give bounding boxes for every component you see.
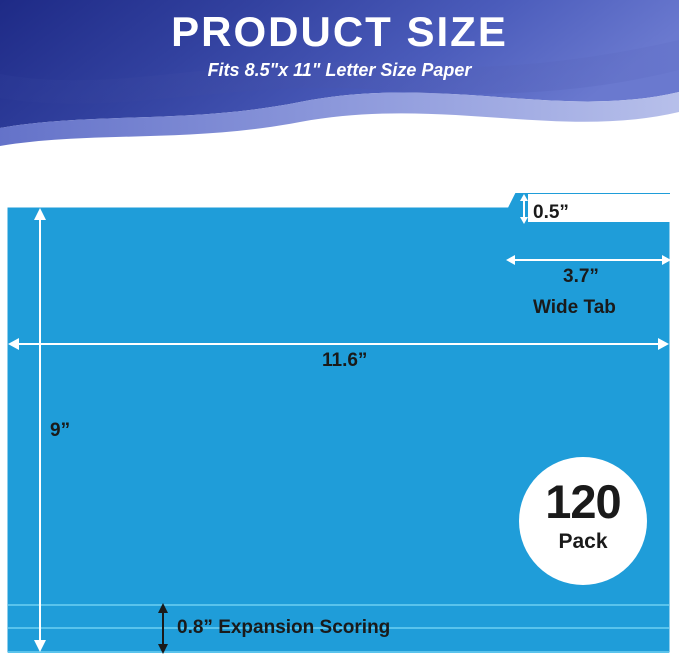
folder-width-label: 11.6” (322, 350, 367, 372)
tab-width-caption: Wide Tab (533, 297, 616, 319)
folder-height-label: 9” (50, 420, 70, 442)
pack-count-value: 120 (519, 474, 647, 529)
folder-diagram: 0.5” 3.7” Wide Tab 11.6” 9” 0.8” Expansi… (0, 150, 679, 658)
product-size-infographic: PRODUCT SIZE Fits 8.5"x 11" Letter Size … (0, 0, 679, 658)
pack-count-unit: Pack (519, 530, 647, 554)
page-subtitle: Fits 8.5"x 11" Letter Size Paper (0, 60, 679, 81)
expansion-scoring-label: 0.8” Expansion Scoring (177, 617, 390, 639)
tab-width-label: 3.7” (563, 266, 599, 288)
header-banner: PRODUCT SIZE Fits 8.5"x 11" Letter Size … (0, 0, 679, 150)
pack-count-badge: 120 Pack (519, 457, 647, 585)
page-title: PRODUCT SIZE (0, 8, 679, 56)
tab-height-label: 0.5” (533, 202, 569, 224)
